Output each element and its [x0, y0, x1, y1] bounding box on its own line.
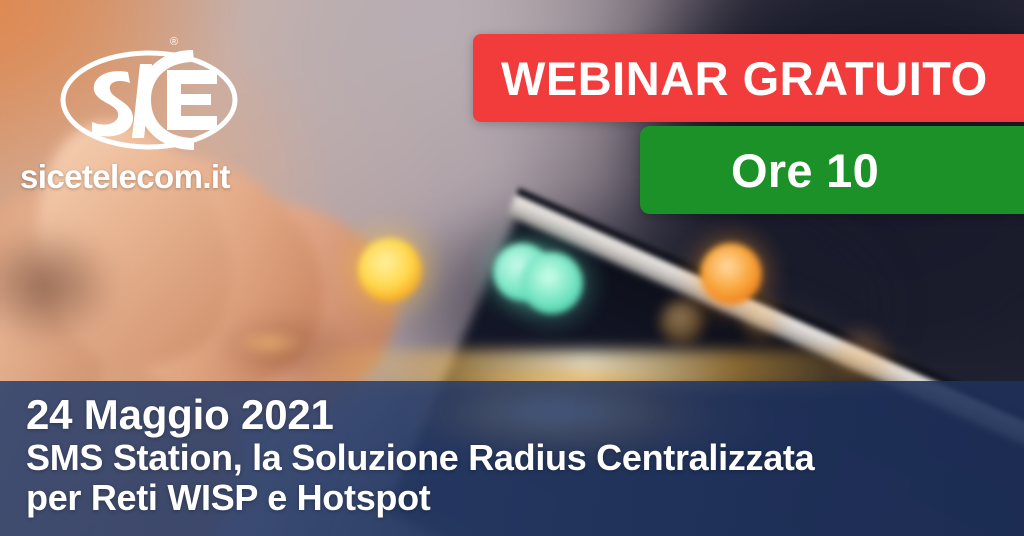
brand-website-text: sicetelecom.it	[20, 158, 280, 196]
time-badge-label: Ore 10	[731, 147, 879, 194]
webinar-promo-banner: ® sicetelecom.it WEBINAR GRATUITO Ore 10…	[0, 0, 1024, 536]
event-title-line-2: per Reti WISP e Hotspot	[26, 478, 1024, 518]
sice-logo: ® sicetelecom.it	[20, 34, 280, 204]
free-webinar-badge: WEBINAR GRATUITO	[473, 34, 1024, 122]
bokeh-yellow-light	[358, 238, 422, 302]
caption-bar: 24 Maggio 2021 SMS Station, la Soluzione…	[0, 381, 1024, 536]
small-lens-flare	[236, 330, 306, 356]
event-title-line-1: SMS Station, la Soluzione Radius Central…	[26, 438, 1024, 478]
sice-ellipse-logo-icon	[54, 34, 244, 159]
time-badge: Ore 10	[640, 126, 1024, 214]
registered-trademark-icon: ®	[170, 37, 178, 48]
event-date: 24 Maggio 2021	[26, 393, 1024, 438]
bokeh-orange-light	[700, 243, 762, 305]
free-webinar-badge-label: WEBINAR GRATUITO	[501, 55, 988, 102]
